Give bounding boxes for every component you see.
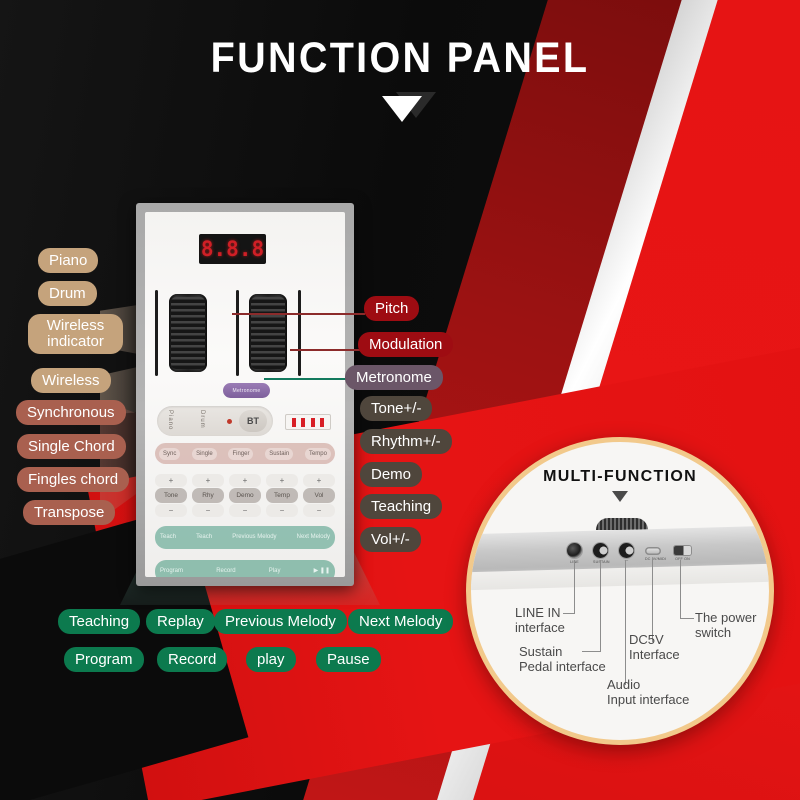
callout-power-l2: switch xyxy=(695,625,756,640)
demo-stepper[interactable]: + Demo − xyxy=(229,474,261,517)
label-modulation[interactable]: Modulation xyxy=(358,332,453,357)
leader-line-power xyxy=(680,560,681,618)
callout-audio-l1: Audio xyxy=(607,677,689,692)
jack-icon xyxy=(593,543,608,558)
pitch-wheel[interactable] xyxy=(169,294,207,372)
chord-button[interactable]: Sync xyxy=(159,448,180,460)
pitch-wheel-ridges xyxy=(171,297,205,369)
metronome-button-label: Metronome xyxy=(233,388,261,394)
label-piano[interactable]: Piano xyxy=(38,248,98,273)
metronome-button[interactable]: Metronome xyxy=(223,383,270,398)
tempo-stepper[interactable]: + Temp − xyxy=(266,474,298,517)
port-power-switch[interactable]: OFF ON xyxy=(674,543,691,561)
teach-button[interactable]: Teach xyxy=(160,534,176,541)
callout-audio-l2: Input interface xyxy=(607,692,689,707)
demo-plus-button[interactable]: + xyxy=(229,474,261,487)
port-sustain-label: SUSTAIN xyxy=(593,560,610,564)
tempo-plus-button[interactable]: + xyxy=(266,474,298,487)
tempo-label: Temp xyxy=(266,488,298,503)
label-replay[interactable]: Replay xyxy=(146,609,215,634)
label-wireless-indicator[interactable]: Wireless indicator xyxy=(28,314,123,354)
headphone-icon xyxy=(619,543,634,558)
led-display: 8.8.8 xyxy=(199,234,266,264)
port-audio-input[interactable]: ⌒ xyxy=(619,543,634,565)
chord-button[interactable]: Sustain xyxy=(265,448,293,460)
label-program[interactable]: Program xyxy=(64,647,144,672)
rhythm-label: Rhy xyxy=(192,488,224,503)
callout-line-in-l2: interface xyxy=(515,620,565,635)
teaching-button-row: Teach Teach Previous Melody Next Melody xyxy=(155,526,335,549)
switch-icon xyxy=(674,546,691,555)
wheel-slot-left xyxy=(155,290,158,376)
play-button[interactable]: Play xyxy=(269,568,281,575)
teach-button-2[interactable]: Teach xyxy=(196,534,212,541)
led-display-value: 8.8.8 xyxy=(201,237,264,261)
port-dc5v-label: DC 5V/MIDI xyxy=(645,557,666,561)
label-pause[interactable]: Pause xyxy=(316,647,381,672)
leader-line-dc5v xyxy=(652,560,653,642)
mode-switch[interactable]: Piano Drum BT xyxy=(157,406,273,436)
next-melody-button[interactable]: Next Melody xyxy=(297,534,330,541)
record-button[interactable]: Record xyxy=(216,568,235,575)
label-demo[interactable]: Demo xyxy=(360,462,422,487)
callout-line-in-l1: LINE IN xyxy=(515,605,565,620)
tone-stepper[interactable]: + Tone − xyxy=(155,474,187,517)
transport-button-row: Program Record Play ▶ ❚❚ xyxy=(155,560,335,577)
tone-plus-button[interactable]: + xyxy=(155,474,187,487)
label-single-chord[interactable]: Single Chord xyxy=(17,434,126,459)
bt-button[interactable]: BT xyxy=(239,410,267,432)
multi-function-inset: MULTI-FUNCTION LINE SUSTAIN ⌒ DC 5V/MIDI… xyxy=(466,437,774,745)
rhythm-plus-button[interactable]: + xyxy=(192,474,224,487)
poster-canvas: FUNCTION PANEL 8.8.8 Metronome Piano Dru… xyxy=(0,0,800,800)
leader-line-sustain xyxy=(600,560,601,652)
callout-line-in: LINE IN interface xyxy=(515,605,565,635)
program-button[interactable]: Program xyxy=(160,568,183,575)
wheel-slot-middle xyxy=(236,290,239,376)
callout-sustain-l1: Sustain xyxy=(519,644,606,659)
label-metronome[interactable]: Metronome xyxy=(345,365,443,390)
label-wireless[interactable]: Wireless xyxy=(31,368,111,393)
chord-button[interactable]: Single xyxy=(192,448,217,460)
connector-modulation xyxy=(290,349,362,351)
mode-drum-label: Drum xyxy=(199,410,205,429)
led-segment xyxy=(311,418,315,427)
connector-metronome xyxy=(264,378,354,380)
wireless-indicator-led xyxy=(227,419,232,424)
label-drum[interactable]: Drum xyxy=(38,281,97,306)
device-panel-face: 8.8.8 Metronome Piano Drum BT xyxy=(145,212,345,577)
device-panel: 8.8.8 Metronome Piano Drum BT xyxy=(136,203,354,586)
label-next-melody[interactable]: Next Melody xyxy=(348,609,453,634)
label-teaching[interactable]: Teaching xyxy=(360,494,442,519)
leader-line-power-h xyxy=(680,618,694,619)
label-pitch[interactable]: Pitch xyxy=(364,296,419,321)
usb-icon xyxy=(645,547,661,555)
callout-audio: Audio Input interface xyxy=(607,677,689,707)
port-sustain[interactable]: SUSTAIN xyxy=(593,543,610,564)
led-segment xyxy=(320,418,324,427)
leader-line-line-in xyxy=(574,560,575,614)
demo-minus-button[interactable]: − xyxy=(229,504,261,517)
label-play[interactable]: play xyxy=(246,647,296,672)
play-pause-icon[interactable]: ▶ ❚❚ xyxy=(314,568,330,575)
chord-button-row: Sync Single Finger Sustain Tempo xyxy=(155,443,335,464)
previous-melody-button[interactable]: Previous Melody xyxy=(232,534,276,541)
wheel-slot-right xyxy=(298,290,301,376)
callout-dc5v-l1: DC5V xyxy=(629,632,680,647)
port-dc5v[interactable]: DC 5V/MIDI xyxy=(645,543,666,561)
led-segment xyxy=(301,418,305,427)
modulation-wheel-ridges xyxy=(251,297,285,369)
speaker-grille xyxy=(596,518,648,530)
callout-dc5v-l2: Interface xyxy=(629,647,680,662)
tone-label: Tone xyxy=(155,488,187,503)
label-record[interactable]: Record xyxy=(157,647,227,672)
callout-power: The power switch xyxy=(695,610,756,640)
volume-minus-button[interactable]: − xyxy=(303,504,335,517)
callout-power-l1: The power xyxy=(695,610,756,625)
led-segment xyxy=(292,418,296,427)
inset-title: MULTI-FUNCTION xyxy=(471,468,769,486)
label-teaching-bottom[interactable]: Teaching xyxy=(58,609,140,634)
volume-label: Vol xyxy=(303,488,335,503)
volume-stepper[interactable]: + Vol − xyxy=(303,474,335,517)
callout-sustain-l2: Pedal interface xyxy=(519,659,606,674)
jack-icon xyxy=(567,543,582,558)
callout-sustain: Sustain Pedal interface xyxy=(519,644,606,674)
label-tone[interactable]: Tone+/- xyxy=(360,396,432,421)
label-fingles-chord[interactable]: Fingles chord xyxy=(17,467,129,492)
volume-plus-button[interactable]: + xyxy=(303,474,335,487)
demo-label: Demo xyxy=(229,488,261,503)
tempo-minus-button[interactable]: − xyxy=(266,504,298,517)
connector-pitch xyxy=(232,313,365,315)
chord-button[interactable]: Tempo xyxy=(305,448,331,460)
tone-minus-button[interactable]: − xyxy=(155,504,187,517)
port-audio-label: ⌒ xyxy=(619,560,634,565)
leader-line-audio xyxy=(625,560,626,685)
page-title: FUNCTION PANEL xyxy=(32,34,768,83)
label-previous-melody[interactable]: Previous Melody xyxy=(214,609,347,634)
modulation-wheel[interactable] xyxy=(249,294,287,372)
mode-piano-label: Piano xyxy=(167,410,173,430)
triangle-down-icon xyxy=(382,96,422,122)
label-synchronous[interactable]: Synchronous xyxy=(16,400,126,425)
chord-button[interactable]: Finger xyxy=(228,448,253,460)
rhythm-minus-button[interactable]: − xyxy=(192,504,224,517)
port-power-label: OFF ON xyxy=(674,557,691,561)
rhythm-stepper[interactable]: + Rhy − xyxy=(192,474,224,517)
label-transpose[interactable]: Transpose xyxy=(23,500,115,525)
led-bar-indicator xyxy=(285,414,331,430)
label-vol[interactable]: Vol+/- xyxy=(360,527,421,552)
callout-dc5v: DC5V Interface xyxy=(629,632,680,662)
inset-triangle-down-icon xyxy=(612,491,628,502)
label-rhythm[interactable]: Rhythm+/- xyxy=(360,429,452,454)
plus-minus-row: + Tone − + Rhy − + Demo − + Temp − xyxy=(155,474,335,517)
